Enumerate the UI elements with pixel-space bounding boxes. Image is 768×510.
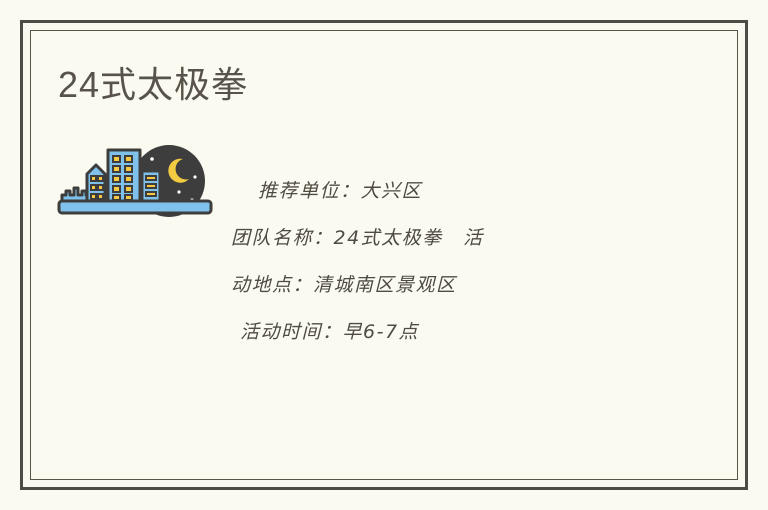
info-line-activity-time: 活动时间：早6-7点 (228, 309, 668, 356)
page-title: 24式太极拳 (58, 62, 248, 108)
night-city-illustration (56, 143, 214, 225)
activity-info-block: 推荐单位：大兴区 团队名称：24式太极拳 活 动地点：清城南区景观区 活动时间：… (228, 168, 668, 356)
poster-page: 24式太极拳 (0, 0, 768, 510)
info-line-recommend-unit: 推荐单位：大兴区 (228, 168, 668, 215)
ground-strip (59, 201, 211, 213)
info-line-activity-place: 动地点：清城南区景观区 (228, 262, 668, 309)
windows-right-tower (146, 176, 156, 196)
info-line-team-name: 团队名称：24式太极拳 活 (228, 215, 668, 262)
windows-left-tower (91, 176, 103, 199)
